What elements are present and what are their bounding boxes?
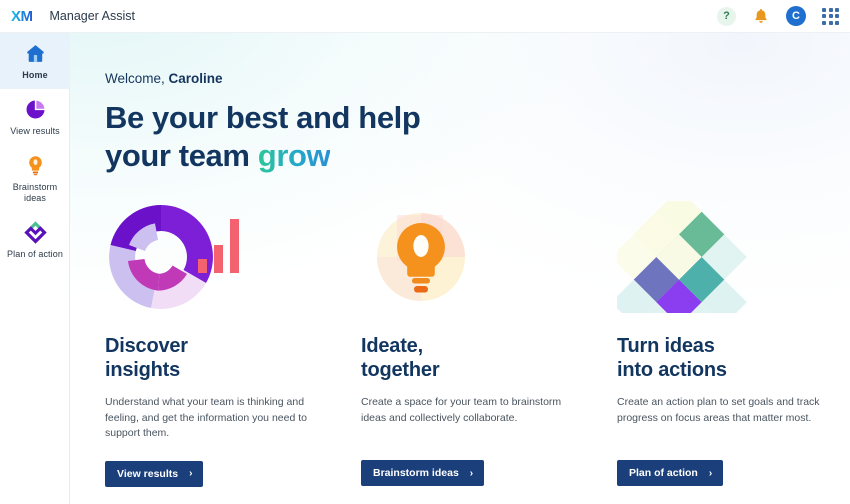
top-header-bar: XM Manager Assist ? C — [0, 0, 850, 33]
chevron-right-icon: › — [470, 468, 473, 479]
lightbulb-icon — [24, 154, 47, 177]
chevron-right-icon: › — [189, 468, 192, 479]
sidebar-item-label: Brainstorm ideas — [4, 182, 66, 204]
brainstorm-ideas-button[interactable]: Brainstorm ideas › — [361, 460, 484, 486]
sidebar-item-home[interactable]: Home — [0, 33, 70, 89]
welcome-user-name: Caroline — [169, 71, 223, 86]
app-switcher-grid-icon[interactable] — [822, 8, 839, 25]
button-label: Brainstorm ideas — [373, 467, 459, 479]
card-title: Discover insights — [105, 334, 319, 382]
card-description: Create an action plan to set goals and t… — [617, 395, 831, 441]
welcome-prefix: Welcome, — [105, 71, 169, 86]
grid-dot — [829, 8, 833, 12]
grid-dot — [822, 21, 826, 25]
card-title-line-1: Discover — [105, 335, 188, 357]
user-avatar[interactable]: C — [786, 6, 806, 26]
card-title-line-2: together — [361, 359, 439, 381]
feature-card-discover-insights: Discover insights Understand what your t… — [105, 201, 319, 487]
grid-dot — [822, 14, 826, 18]
grid-dot — [835, 14, 839, 18]
header-actions: ? C — [717, 6, 839, 26]
card-title-line-2: into actions — [617, 359, 727, 381]
plan-of-action-button[interactable]: Plan of action › — [617, 460, 723, 486]
chevron-right-icon: › — [709, 468, 712, 479]
main-content-area: Welcome, Caroline Be your best and help … — [70, 33, 850, 504]
welcome-greeting: Welcome, Caroline — [105, 71, 850, 86]
hero-line-2-plain: your team — [105, 138, 258, 173]
card-description: Create a space for your team to brainsto… — [361, 395, 575, 441]
page-title: Be your best and help your team grow — [105, 99, 850, 175]
card-title: Ideate, together — [361, 334, 575, 382]
sidebar-item-brainstorm-ideas[interactable]: Brainstorm ideas — [0, 145, 70, 212]
button-label: View results — [117, 468, 178, 480]
grid-dot — [829, 21, 833, 25]
lightbulb-illustration — [361, 201, 541, 313]
feature-card-ideate-together: Ideate, together Create a space for your… — [361, 201, 575, 487]
card-title-line-1: Ideate, — [361, 335, 423, 357]
donut-chart-illustration — [105, 201, 285, 313]
sidebar-item-label: Plan of action — [7, 249, 63, 260]
diamond-illustration — [617, 201, 797, 313]
sidebar-item-plan-of-action[interactable]: Plan of action — [0, 212, 70, 268]
feature-card-turn-ideas-into-actions: Turn ideas into actions Create an action… — [617, 201, 831, 487]
notification-bell-icon[interactable] — [752, 7, 770, 25]
sidebar-item-label: Home — [22, 70, 47, 81]
card-title: Turn ideas into actions — [617, 334, 831, 382]
hero-accent-word: grow — [258, 138, 330, 173]
card-title-line-2: insights — [105, 359, 180, 381]
app-title: Manager Assist — [50, 9, 135, 23]
pie-chart-icon — [24, 98, 47, 121]
xm-logo[interactable]: XM — [11, 9, 33, 24]
sidebar-item-label: View results — [10, 126, 60, 137]
left-sidebar: Home View results Brainstorm ideas Plan … — [0, 33, 70, 504]
grid-dot — [835, 8, 839, 12]
hero-line-1: Be your best and help — [105, 100, 420, 135]
grid-dot — [835, 21, 839, 25]
help-icon[interactable]: ? — [717, 7, 736, 26]
view-results-button[interactable]: View results › — [105, 461, 203, 487]
card-title-line-1: Turn ideas — [617, 335, 715, 357]
grid-dot — [822, 8, 826, 12]
diamond-icon — [24, 221, 47, 244]
grid-dot — [829, 14, 833, 18]
button-label: Plan of action — [629, 467, 698, 479]
card-description: Understand what your team is thinking an… — [105, 395, 319, 442]
sidebar-item-view-results[interactable]: View results — [0, 89, 70, 145]
feature-card-grid: Discover insights Understand what your t… — [105, 201, 850, 487]
home-icon — [24, 42, 47, 65]
